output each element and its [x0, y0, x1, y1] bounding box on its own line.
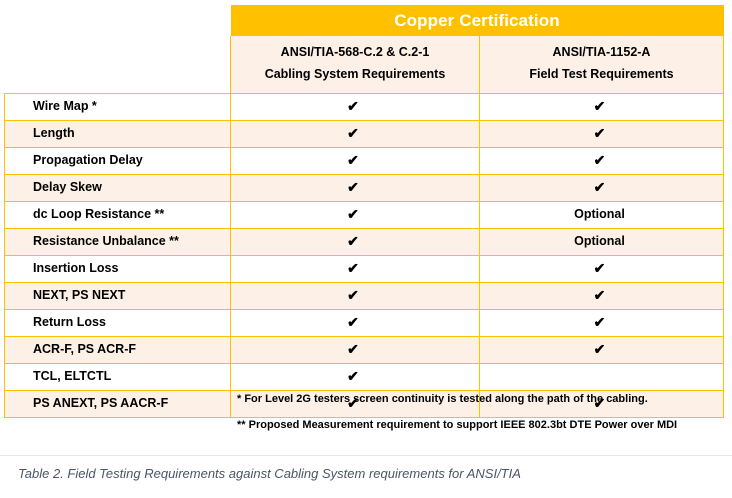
table-row: Length✔✔ — [5, 120, 724, 147]
column-header-tia568-line1: ANSI/TIA-568-C.2 & C.2-1 — [235, 42, 475, 64]
row-label: dc Loop Resistance ** — [5, 201, 231, 228]
cell-tia1152: ✔ — [480, 282, 724, 309]
table-row: TCL, ELTCTL✔ — [5, 363, 724, 390]
cell-tia1152: ✔ — [480, 147, 724, 174]
row-label: Propagation Delay — [5, 147, 231, 174]
cell-tia1152 — [480, 363, 724, 390]
row-label: ACR-F, PS ACR-F — [5, 336, 231, 363]
cell-tia568: ✔ — [231, 201, 480, 228]
banner-title: Copper Certification — [231, 5, 724, 36]
cell-tia1152: ✔ — [480, 255, 724, 282]
cell-tia1152: Optional — [480, 228, 724, 255]
footnote-single-asterisk: * For Level 2G testers screen continuity… — [237, 393, 727, 406]
column-header-tia568: ANSI/TIA-568-C.2 & C.2-1 Cabling System … — [231, 36, 480, 93]
check-icon: ✔ — [594, 94, 606, 119]
cell-tia1152: ✔ — [480, 336, 724, 363]
check-icon: ✔ — [347, 364, 359, 389]
check-icon: ✔ — [347, 175, 359, 200]
column-header-tia568-line2: Cabling System Requirements — [235, 64, 475, 86]
row-label: Return Loss — [5, 309, 231, 336]
row-label: TCL, ELTCTL — [5, 363, 231, 390]
row-label: Insertion Loss — [5, 255, 231, 282]
table-row: Return Loss✔✔ — [5, 309, 724, 336]
check-icon: ✔ — [347, 148, 359, 173]
cell-tia1152: ✔ — [480, 309, 724, 336]
cell-tia1152: Optional — [480, 201, 724, 228]
copper-certification-table-container: Copper Certification ANSI/TIA-568-C.2 & … — [4, 5, 723, 418]
cell-tia1152: ✔ — [480, 174, 724, 201]
cell-tia568: ✔ — [231, 228, 480, 255]
cell-tia1152: ✔ — [480, 120, 724, 147]
check-icon: ✔ — [594, 337, 606, 362]
row-label: Wire Map * — [5, 93, 231, 120]
check-icon: ✔ — [594, 256, 606, 281]
subheader-spacer-cell — [5, 36, 231, 93]
cell-tia568: ✔ — [231, 120, 480, 147]
check-icon: ✔ — [347, 202, 359, 227]
row-label: Length — [5, 120, 231, 147]
table-row: Delay Skew✔✔ — [5, 174, 724, 201]
subheader-row: ANSI/TIA-568-C.2 & C.2-1 Cabling System … — [5, 36, 724, 93]
cell-tia568: ✔ — [231, 363, 480, 390]
cell-tia568: ✔ — [231, 282, 480, 309]
check-icon: ✔ — [347, 121, 359, 146]
footnote-double-asterisk: ** Proposed Measurement requirement to s… — [237, 419, 727, 432]
check-icon: ✔ — [594, 121, 606, 146]
row-label: Delay Skew — [5, 174, 231, 201]
cell-tia568: ✔ — [231, 309, 480, 336]
column-header-tia1152-line2: Field Test Requirements — [484, 64, 719, 86]
column-header-tia1152-line1: ANSI/TIA-1152-A — [484, 42, 719, 64]
check-icon: ✔ — [594, 310, 606, 335]
optional-label: Optional — [574, 229, 625, 254]
row-label: NEXT, PS NEXT — [5, 282, 231, 309]
check-icon: ✔ — [594, 148, 606, 173]
check-icon: ✔ — [594, 283, 606, 308]
row-label: Resistance Unbalance ** — [5, 228, 231, 255]
row-label: PS ANEXT, PS AACR-F — [5, 390, 231, 417]
table-row: Resistance Unbalance **✔Optional — [5, 228, 724, 255]
table-row: Insertion Loss✔✔ — [5, 255, 724, 282]
caption-divider — [0, 455, 732, 456]
table-header: Copper Certification ANSI/TIA-568-C.2 & … — [5, 5, 724, 93]
table-row: Wire Map *✔✔ — [5, 93, 724, 120]
cell-tia568: ✔ — [231, 174, 480, 201]
table-body: Wire Map *✔✔Length✔✔Propagation Delay✔✔D… — [5, 93, 724, 417]
check-icon: ✔ — [347, 283, 359, 308]
table-row: NEXT, PS NEXT✔✔ — [5, 282, 724, 309]
check-icon: ✔ — [347, 256, 359, 281]
footnotes-block: * For Level 2G testers screen continuity… — [237, 393, 727, 445]
column-header-tia1152: ANSI/TIA-1152-A Field Test Requirements — [480, 36, 724, 93]
copper-certification-table: Copper Certification ANSI/TIA-568-C.2 & … — [4, 5, 724, 418]
check-icon: ✔ — [347, 337, 359, 362]
cell-tia568: ✔ — [231, 93, 480, 120]
table-caption: Table 2. Field Testing Requirements agai… — [18, 466, 521, 481]
cell-tia1152: ✔ — [480, 93, 724, 120]
cell-tia568: ✔ — [231, 147, 480, 174]
table-row: Propagation Delay✔✔ — [5, 147, 724, 174]
table-row: dc Loop Resistance **✔Optional — [5, 201, 724, 228]
check-icon: ✔ — [347, 229, 359, 254]
check-icon: ✔ — [594, 175, 606, 200]
banner-spacer-cell — [5, 5, 231, 36]
table-row: ACR-F, PS ACR-F✔✔ — [5, 336, 724, 363]
cell-tia568: ✔ — [231, 336, 480, 363]
check-icon: ✔ — [347, 94, 359, 119]
optional-label: Optional — [574, 202, 625, 227]
cell-tia568: ✔ — [231, 255, 480, 282]
banner-row: Copper Certification — [5, 5, 724, 36]
check-icon: ✔ — [347, 310, 359, 335]
